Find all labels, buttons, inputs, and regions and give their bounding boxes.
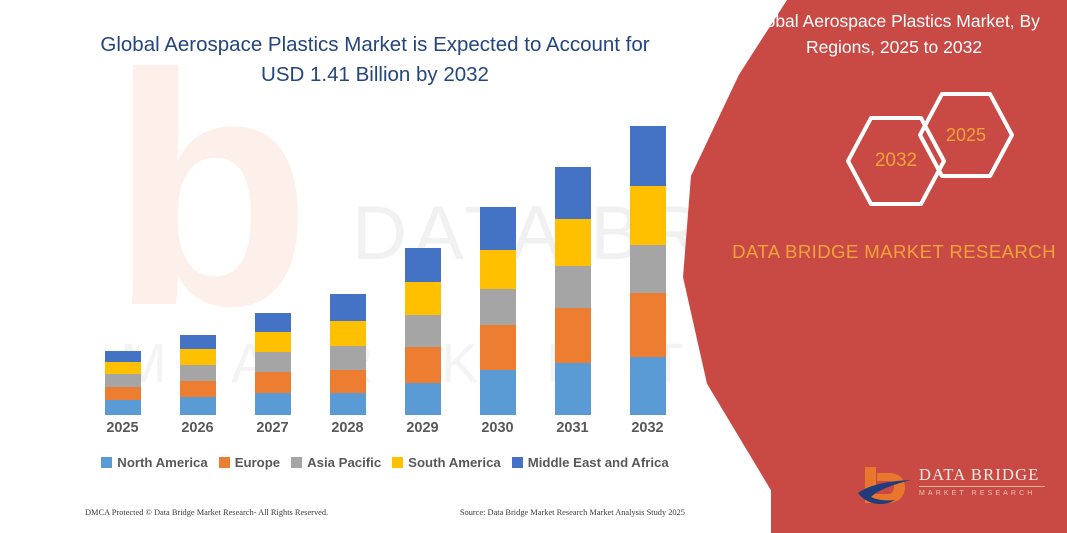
stacked-bar[interactable] — [255, 313, 291, 415]
legend-label: Asia Pacific — [307, 455, 381, 470]
bar-segment[interactable] — [630, 293, 666, 357]
bar-segment[interactable] — [330, 346, 366, 370]
bar-column — [85, 112, 160, 415]
legend-swatch-icon — [392, 457, 403, 468]
bar-segment[interactable] — [555, 266, 591, 309]
bar-column — [460, 112, 535, 415]
x-axis-tick: 2025 — [85, 420, 160, 444]
bar-segment[interactable] — [330, 321, 366, 346]
bar-segment[interactable] — [180, 381, 216, 398]
bar-segment[interactable] — [255, 352, 291, 372]
legend-swatch-icon — [291, 457, 302, 468]
bar-segment[interactable] — [255, 313, 291, 333]
bar-segment[interactable] — [105, 362, 141, 375]
bar-column — [160, 112, 235, 415]
right-panel-title: Global Aerospace Plastics Market, By Reg… — [729, 8, 1059, 60]
infographic-canvas: b DATA BRIDGE M A R K E T R E S E A R C … — [0, 0, 1067, 533]
bar-segment[interactable] — [480, 289, 516, 326]
x-axis-labels: 20252026202720282029203020312032 — [85, 420, 685, 444]
stacked-bar[interactable] — [330, 294, 366, 415]
bar-segment[interactable] — [180, 365, 216, 381]
footer-copyright: DMCA Protected © Data Bridge Market Rese… — [85, 508, 328, 517]
bar-segment[interactable] — [555, 219, 591, 266]
bar-segment[interactable] — [555, 167, 591, 218]
legend-label: South America — [408, 455, 501, 470]
chart-title: Global Aerospace Plastics Market is Expe… — [85, 30, 665, 90]
stacked-bar[interactable] — [180, 335, 216, 415]
brand-name: DATA BRIDGE MARKET RESEARCH — [729, 238, 1059, 266]
bar-segment[interactable] — [180, 349, 216, 365]
bar-column — [535, 112, 610, 415]
bar-segment[interactable] — [105, 374, 141, 387]
footer-source: Source: Data Bridge Market Research Mark… — [460, 508, 685, 517]
legend-item[interactable]: South America — [392, 455, 501, 470]
bar-segment[interactable] — [330, 393, 366, 415]
bar-group — [85, 112, 685, 415]
legend-item[interactable]: Europe — [219, 455, 280, 470]
stacked-bar[interactable] — [480, 207, 516, 415]
legend-item[interactable]: Middle East and Africa — [512, 455, 669, 470]
bar-segment[interactable] — [555, 363, 591, 415]
bar-segment[interactable] — [180, 335, 216, 350]
bar-segment[interactable] — [105, 400, 141, 415]
hexagon-2025: 2025 — [918, 92, 1014, 178]
logo-sub-text: MARKET RESEARCH — [919, 489, 1045, 499]
bar-segment[interactable] — [180, 397, 216, 415]
legend-swatch-icon — [512, 457, 523, 468]
x-axis-tick: 2031 — [535, 420, 610, 444]
logo-main-text: DATA BRIDGE — [919, 465, 1045, 485]
bar-segment[interactable] — [630, 357, 666, 416]
bar-segment[interactable] — [405, 383, 441, 415]
stacked-bar[interactable] — [630, 126, 666, 415]
bar-segment[interactable] — [480, 325, 516, 370]
legend-label: Europe — [235, 455, 280, 470]
bar-segment[interactable] — [480, 370, 516, 415]
x-axis-tick: 2026 — [160, 420, 235, 444]
logo-mark-icon — [857, 463, 913, 509]
bar-segment[interactable] — [630, 126, 666, 187]
bar-segment[interactable] — [480, 250, 516, 289]
bar-segment[interactable] — [480, 207, 516, 250]
x-axis-tick: 2030 — [460, 420, 535, 444]
bar-segment[interactable] — [105, 351, 141, 361]
bar-segment[interactable] — [255, 332, 291, 352]
bar-segment[interactable] — [405, 315, 441, 347]
bar-segment[interactable] — [255, 372, 291, 393]
hexagon-group: 2032 2025 — [846, 92, 1021, 207]
legend-swatch-icon — [101, 457, 112, 468]
bar-column — [385, 112, 460, 415]
bar-column — [235, 112, 310, 415]
bar-segment[interactable] — [405, 248, 441, 282]
bar-segment[interactable] — [330, 294, 366, 321]
legend-label: Middle East and Africa — [528, 455, 669, 470]
bar-segment[interactable] — [330, 370, 366, 393]
chart-legend: North AmericaEuropeAsia PacificSouth Ame… — [85, 455, 685, 470]
bar-segment[interactable] — [630, 186, 666, 245]
footer: DMCA Protected © Data Bridge Market Rese… — [85, 508, 685, 517]
bar-segment[interactable] — [405, 282, 441, 314]
stacked-bar[interactable] — [555, 167, 591, 415]
stacked-bar[interactable] — [405, 248, 441, 415]
x-axis-tick: 2027 — [235, 420, 310, 444]
logo-divider — [919, 486, 1045, 487]
chart-plot-area — [85, 110, 685, 415]
legend-item[interactable]: Asia Pacific — [291, 455, 381, 470]
stacked-bar[interactable] — [105, 351, 141, 415]
x-axis-tick: 2028 — [310, 420, 385, 444]
hexagon-2025-label: 2025 — [918, 92, 1014, 178]
bar-segment[interactable] — [405, 347, 441, 383]
bar-segment[interactable] — [255, 393, 291, 415]
x-axis-tick: 2032 — [610, 420, 685, 444]
bar-segment[interactable] — [105, 387, 141, 401]
company-logo: DATA BRIDGE MARKET RESEARCH — [857, 461, 1045, 511]
legend-swatch-icon — [219, 457, 230, 468]
bar-column — [610, 112, 685, 415]
bar-segment[interactable] — [555, 308, 591, 362]
legend-item[interactable]: North America — [101, 455, 207, 470]
bar-column — [310, 112, 385, 415]
legend-label: North America — [117, 455, 207, 470]
right-panel — [667, 0, 1067, 533]
bar-segment[interactable] — [630, 245, 666, 293]
x-axis-tick: 2029 — [385, 420, 460, 444]
logo-wordmark: DATA BRIDGE MARKET RESEARCH — [919, 465, 1045, 499]
